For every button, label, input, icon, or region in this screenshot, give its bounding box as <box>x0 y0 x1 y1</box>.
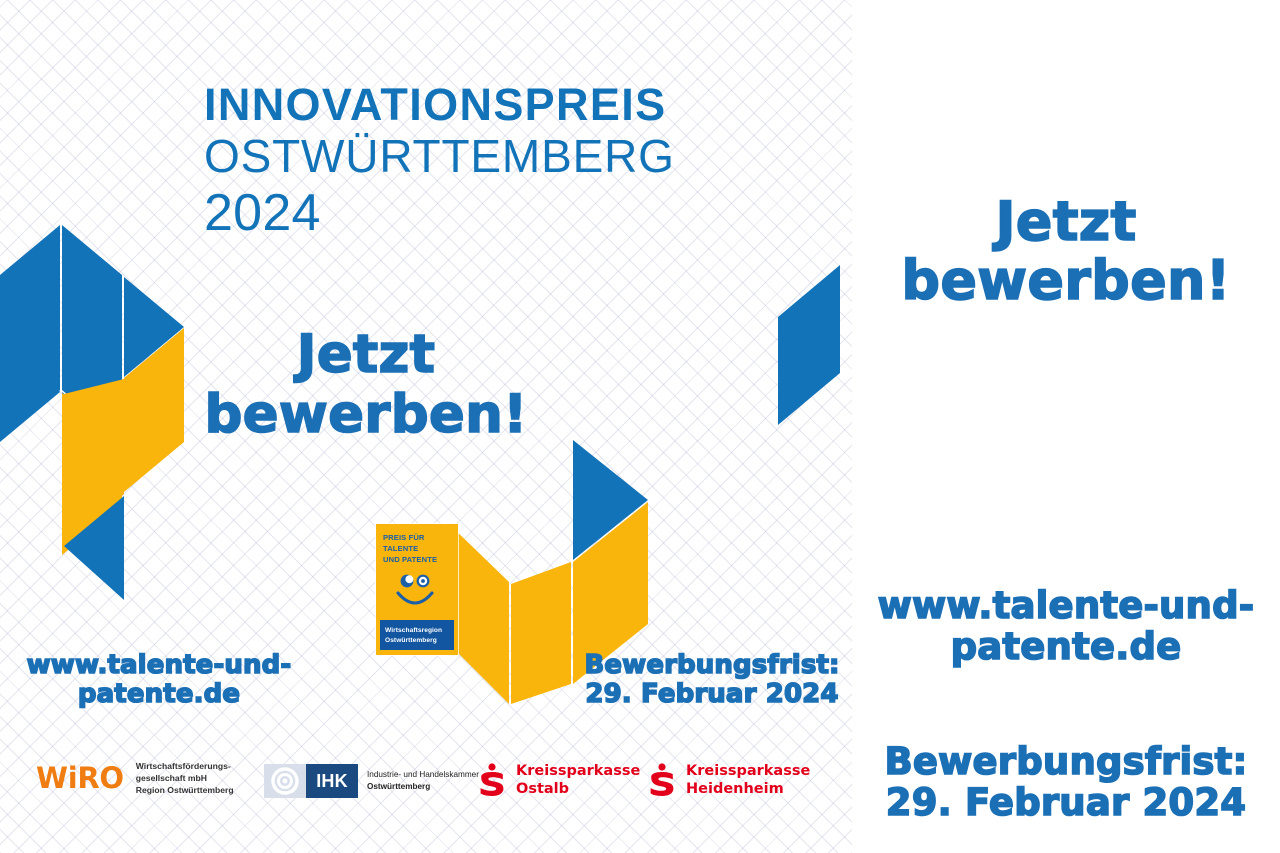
wiro-wordmark: WiRO <box>36 764 124 793</box>
wiro-subtitle: Wirtschaftsförderungs- gesellschaft mbH … <box>136 760 234 797</box>
wiro-subtitle-line-1: Wirtschaftsförderungs- <box>136 760 234 772</box>
ribbon-shape-yellow-left <box>449 524 509 704</box>
cta-right-line-2: bewerben! <box>860 251 1272 310</box>
ihk-subtitle-line-1: Industrie- und Handelskammer <box>367 769 479 781</box>
badge-footer: Wirtschaftsregion Ostwürttemberg <box>380 620 454 650</box>
website-url-left[interactable]: www.talente-und- patente.de <box>14 651 304 708</box>
award-badge-logo: PREIS FÜR TALENTE UND PATENTE Wirtschaft… <box>376 524 458 655</box>
badge-title-line-3: UND PATENTE <box>383 555 458 566</box>
application-deadline-right: Bewerbungsfrist: 29. Februar 2024 <box>866 742 1266 823</box>
headline-year: 2024 <box>204 187 824 239</box>
partner-logo-wiro: WiRO Wirtschaftsförderungs- gesellschaft… <box>36 760 234 797</box>
url-right-line-1: www.talente-und- <box>874 586 1258 627</box>
ribbon-shape-blue-parallelogram <box>778 265 848 425</box>
url-right-line-2: patente.de <box>874 627 1258 668</box>
url-left-line-1: www.talente-und- <box>14 651 304 680</box>
cta-left-line-2: bewerben! <box>196 386 536 444</box>
poster-left-panel: INNOVATIONSPREIS OSTWÜRTTEMBERG 2024 Jet… <box>0 0 852 853</box>
partner-logo-kreissparkasse-ostalb: Kreissparkasse Ostalb <box>478 762 640 799</box>
ihk-swirl-icon <box>264 764 306 798</box>
cta-left-line-1: Jetzt <box>196 326 536 384</box>
ihk-logo-block: IHK <box>264 764 358 798</box>
ribbon-graphic-left <box>0 205 200 605</box>
deadline-left-label: Bewerbungsfrist: <box>578 651 846 680</box>
page-title: INNOVATIONSPREIS OSTWÜRTTEMBERG 2024 <box>204 82 824 239</box>
cta-right-line-1: Jetzt <box>860 192 1272 251</box>
sparkasse-s-icon <box>648 763 676 797</box>
partner-logo-ihk: IHK Industrie- und Handelskammer Ostwürt… <box>264 764 479 798</box>
ihk-subtitle: Industrie- und Handelskammer Ostwürttemb… <box>367 769 479 793</box>
ksk-heidenheim-line-1: Kreissparkasse <box>686 762 810 780</box>
headline-line-1: INNOVATIONSPREIS <box>204 82 824 127</box>
poster-canvas: INNOVATIONSPREIS OSTWÜRTTEMBERG 2024 Jet… <box>0 0 1280 853</box>
ksk-heidenheim-line-2: Heidenheim <box>686 780 810 798</box>
ribbon-shape-yellow-mid <box>511 562 571 704</box>
deadline-right-label: Bewerbungsfrist: <box>866 742 1266 783</box>
poster-right-panel: Jetzt bewerben! www.talente-und- patente… <box>852 0 1280 853</box>
partner-logo-bar: WiRO Wirtschaftsförderungs- gesellschaft… <box>0 752 852 824</box>
partner-logo-kreissparkasse-heidenheim: Kreissparkasse Heidenheim <box>648 762 810 799</box>
deadline-left-date: 29. Februar 2024 <box>578 680 846 709</box>
url-left-line-2: patente.de <box>14 680 304 709</box>
ihk-subtitle-line-2: Ostwürttemberg <box>367 781 479 793</box>
wiro-subtitle-line-2: gesellschaft mbH <box>136 772 234 784</box>
ihk-wordmark: IHK <box>306 764 358 798</box>
sparkasse-s-icon <box>478 763 506 797</box>
badge-title-line-2: TALENTE <box>383 544 458 555</box>
cta-jetzt-bewerben-left: Jetzt bewerben! <box>196 326 536 445</box>
badge-title-line-1: PREIS FÜR <box>383 533 458 544</box>
badge-footer-line-2: Ostwürttemberg <box>385 636 454 646</box>
ksk-ostalb-line-2: Ostalb <box>516 780 640 798</box>
website-url-right[interactable]: www.talente-und- patente.de <box>874 586 1258 667</box>
badge-title: PREIS FÜR TALENTE UND PATENTE <box>376 524 458 565</box>
deadline-right-date: 29. Februar 2024 <box>866 783 1266 824</box>
ksk-ostalb-line-1: Kreissparkasse <box>516 762 640 780</box>
application-deadline-left: Bewerbungsfrist: 29. Februar 2024 <box>578 651 846 708</box>
headline-line-2: OSTWÜRTTEMBERG <box>204 133 824 179</box>
ksk-ostalb-text: Kreissparkasse Ostalb <box>516 762 640 799</box>
cta-jetzt-bewerben-right: Jetzt bewerben! <box>860 192 1272 311</box>
ksk-heidenheim-text: Kreissparkasse Heidenheim <box>686 762 810 799</box>
badge-footer-line-1: Wirtschaftsregion <box>385 626 454 636</box>
wiro-subtitle-line-3: Region Ostwürttemberg <box>136 784 234 796</box>
smiley-face-icon <box>376 570 458 616</box>
